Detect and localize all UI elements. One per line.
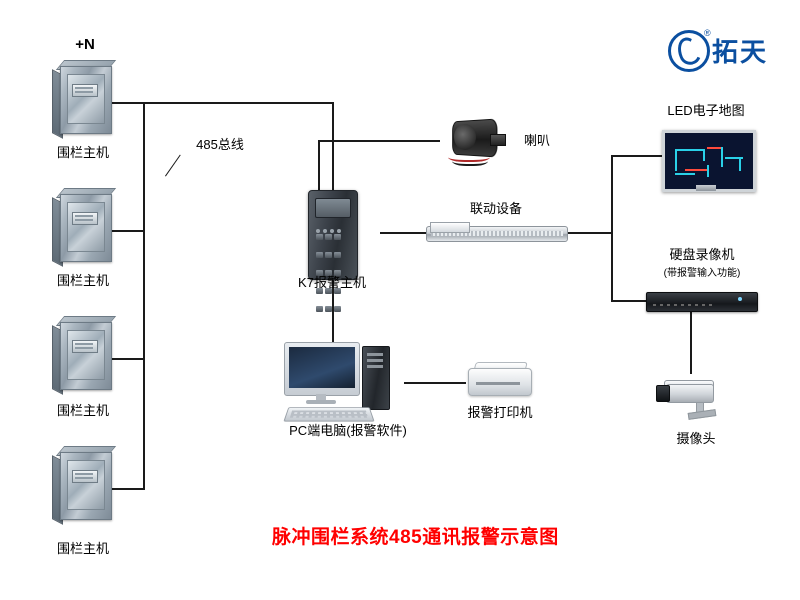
fence-host-icon[interactable]	[52, 190, 116, 262]
wire-bus-to-k7	[332, 102, 334, 190]
bus-tick-mark	[170, 160, 196, 186]
dvr-icon[interactable]	[646, 288, 756, 316]
diagram-title: 脉冲围栏系统485通讯报警示意图	[272, 522, 559, 549]
fence-host-icon[interactable]	[52, 448, 116, 520]
bus-label: 485总线	[180, 134, 260, 153]
wire-right-column	[611, 155, 613, 300]
speaker-label: 喇叭	[512, 130, 562, 149]
linkage-device-icon[interactable]	[426, 220, 566, 246]
fence-host-icon[interactable]	[52, 318, 116, 390]
printer-icon[interactable]	[468, 360, 530, 402]
wire-dvr-camera	[690, 312, 692, 374]
wire-to-ledmap	[611, 155, 663, 157]
cctv-camera-icon[interactable]	[654, 370, 726, 426]
registered-mark: ®	[704, 28, 711, 38]
wire-k7-speaker-h	[318, 140, 440, 142]
linkage-device-label: 联动设备	[448, 198, 544, 217]
wire-bus-trunk	[143, 102, 145, 490]
led-map-label: LED电子地图	[638, 100, 774, 119]
k7-alarm-host-label: K7报警主机	[282, 272, 382, 291]
camera-label: 摄像头	[656, 428, 736, 447]
wire-pc-printer	[404, 382, 466, 384]
fence-host-4-label: 围栏主机	[28, 538, 138, 557]
fence-host-icon[interactable]	[52, 62, 116, 134]
wire-k7-linkage	[380, 232, 428, 234]
dvr-sublabel: (带报警输入功能)	[634, 264, 770, 279]
k7-alarm-host-icon[interactable]	[308, 190, 356, 278]
fence-host-3-label: 围栏主机	[28, 400, 138, 419]
dvr-label: 硬盘录像机	[634, 244, 770, 263]
wire-linkage-right	[566, 232, 612, 234]
brand-logo: ® 拓天	[668, 30, 788, 74]
fence-host-1-label: 围栏主机	[28, 142, 138, 161]
horn-speaker-icon[interactable]	[440, 118, 508, 170]
wire-bus-top	[143, 102, 333, 104]
printer-label: 报警打印机	[444, 402, 556, 421]
brand-name: 拓天	[712, 32, 768, 69]
wire-to-dvr	[611, 300, 647, 302]
fence-host-2-label: 围栏主机	[28, 270, 138, 289]
pc-label: PC端电脑(报警软件)	[258, 420, 438, 439]
plus-n-label: +N	[60, 36, 110, 53]
led-map-icon[interactable]	[662, 130, 750, 192]
diagram-canvas: ® 拓天 围栏主机 +N 围栏主机 围栏主机	[0, 0, 800, 600]
